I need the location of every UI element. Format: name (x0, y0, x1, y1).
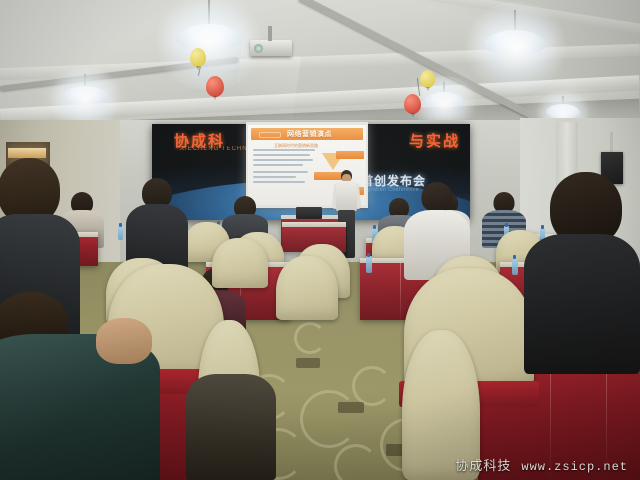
table-skirt-fold (400, 263, 401, 325)
projector-mount (268, 26, 272, 41)
water-bottle (366, 256, 372, 273)
pendant-lamp (62, 74, 108, 112)
speaker-mount-rod (610, 132, 613, 154)
lamp-shade (546, 104, 580, 118)
pendant-lamp (176, 0, 242, 58)
backdrop-title-right: 与实战 (409, 130, 460, 151)
carpet-swirl (294, 322, 326, 354)
attendee-head (422, 182, 453, 212)
lamp-shade (424, 92, 464, 108)
slide-text-line (253, 171, 308, 173)
banquet-chair (276, 256, 338, 320)
watermark-brand: 协成科技 (455, 455, 511, 474)
slide-header-decoration (259, 132, 281, 138)
balloon-yellow (190, 48, 206, 67)
slide-text-line (253, 181, 305, 183)
lamp-shade (484, 30, 546, 55)
slide-title: 网络营销演点 (287, 129, 332, 139)
conference-room-photo: 协成科 与实战 XIECHENG TECHNOLOGY 下首创发布会 IT In… (0, 0, 640, 480)
foreground-torso (186, 374, 276, 480)
slide-text-line (253, 176, 296, 178)
carpet-swirl (352, 366, 392, 406)
foreground-attendee-right (524, 172, 640, 372)
lamp-cord (514, 10, 516, 32)
lamp-shade (176, 24, 242, 50)
balloon-yellow (420, 70, 435, 88)
balloon-red (206, 76, 224, 97)
slide-text-line (253, 149, 315, 151)
foreground-hand (96, 318, 152, 364)
slide-tag-1 (336, 151, 364, 159)
carpet-pattern-dark (296, 358, 320, 368)
slide-text-line (253, 159, 313, 161)
carpet-swirl (300, 390, 358, 448)
slide-text-line (253, 164, 303, 166)
carpet-swirl (334, 444, 378, 480)
carpet-pattern-dark (338, 402, 364, 413)
projector-lens (254, 44, 263, 53)
ceiling-projector (250, 40, 292, 56)
slide-text-line (253, 154, 310, 156)
foreground-attendee-bottom-center (186, 374, 276, 480)
slide-body-text (253, 149, 315, 186)
laptop (296, 207, 322, 219)
chair-back (276, 256, 338, 320)
lamp-shade (62, 86, 108, 104)
pendant-lamp (484, 10, 546, 66)
foreground-torso (524, 234, 640, 374)
watermark: 协成科技 www.zsicp.net (455, 455, 628, 474)
balloon-red (404, 94, 421, 114)
slide-header-bar: 网络营销演点 (251, 128, 363, 140)
water-bottle (118, 226, 123, 240)
watermark-url: www.zsicp.net (521, 460, 628, 474)
lamp-cord (208, 0, 210, 26)
presenter-shirt (336, 181, 357, 211)
